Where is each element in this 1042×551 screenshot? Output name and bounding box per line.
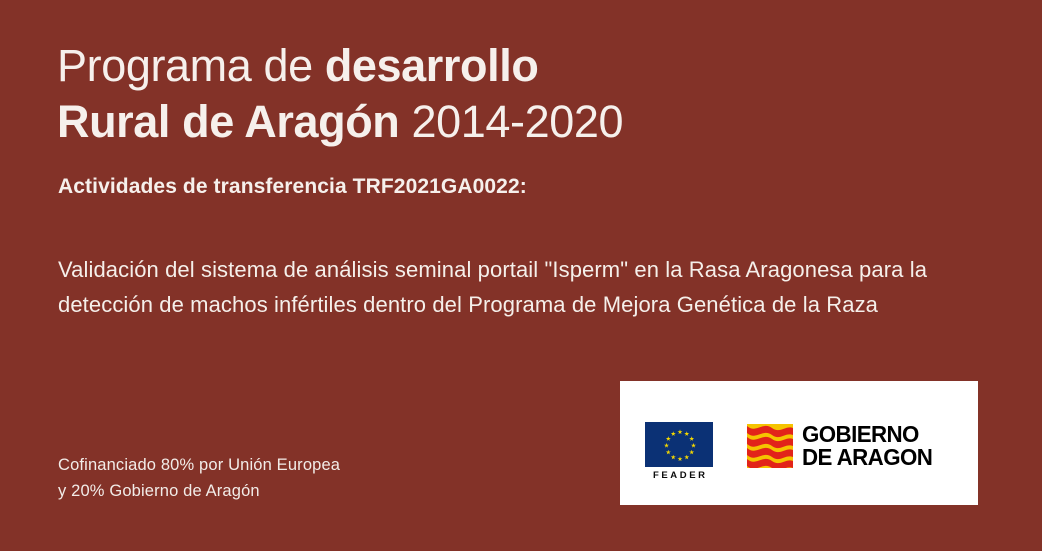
gobierno-de-aragon-wordmark: GOBIERNO DE ARAGON — [802, 423, 932, 469]
page-title: Programa de desarrollo Rural de Aragón 2… — [57, 38, 623, 150]
aragon-shield-icon — [747, 424, 793, 468]
project-subtitle: Actividades de transferencia TRF2021GA00… — [58, 175, 527, 199]
funding-note-line-2: y 20% Gobierno de Aragón — [58, 478, 340, 504]
page-title-line-1-bold: desarrollo — [325, 40, 539, 91]
poster-canvas: Programa de desarrollo Rural de Aragón 2… — [0, 0, 1042, 551]
feader-label: FEADER — [645, 470, 713, 481]
funding-note: Cofinanciado 80% por Unión Europea y 20%… — [58, 452, 340, 504]
gobierno-de-aragon-wordmark-line-2: DE ARAGON — [802, 446, 932, 469]
page-title-line-2-light: 2014-2020 — [411, 96, 623, 147]
funding-note-line-1: Cofinanciado 80% por Unión Europea — [58, 452, 340, 478]
gobierno-de-aragon-logo: GOBIERNO DE ARAGON — [747, 423, 936, 469]
page-title-line-1: Programa de desarrollo — [57, 38, 623, 94]
feader-logo: FEADER — [645, 422, 713, 481]
page-title-line-1-light: Programa de — [57, 40, 325, 91]
page-title-line-2: Rural de Aragón 2014-2020 — [57, 94, 623, 150]
page-title-line-2-bold: Rural de Aragón — [57, 96, 411, 147]
european-union-flag-icon — [645, 422, 713, 467]
gobierno-de-aragon-wordmark-line-1: GOBIERNO — [802, 423, 932, 446]
project-description: Validación del sistema de análisis semin… — [58, 252, 988, 322]
logo-panel: FEADER GOBIERNO DE ARAGON — [620, 381, 978, 505]
